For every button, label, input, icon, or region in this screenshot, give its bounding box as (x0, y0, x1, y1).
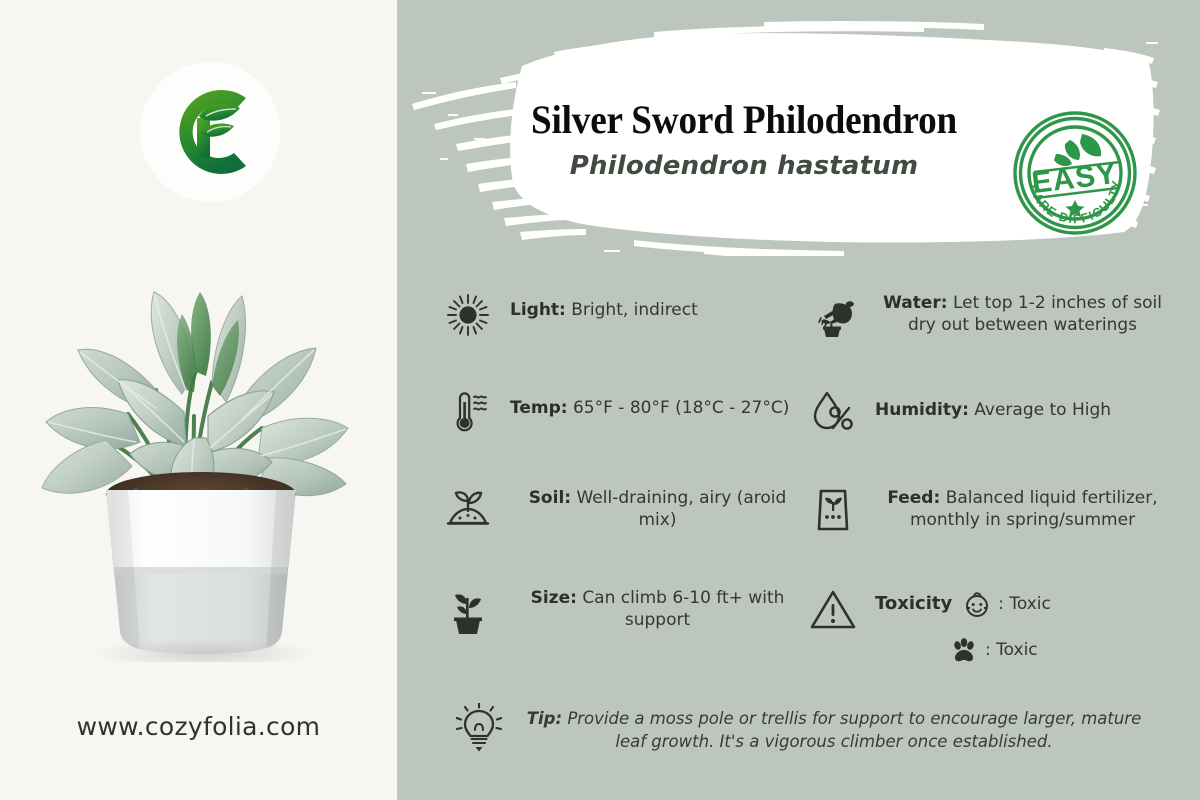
care-item-soil: Soil: Well-draining, airy (aroid mix) (440, 479, 805, 579)
brand-logo (140, 62, 280, 202)
toxicity-pet-line: : Toxic (949, 635, 1170, 665)
care-item-light-label: Light: (510, 300, 566, 320)
care-item-temp-value: 65°F - 80°F (18°C - 27°C) (573, 398, 789, 418)
care-tip-text: Tip: Provide a moss pole or trellis for … (506, 700, 1152, 754)
toxicity-baby-line: Toxicity (875, 589, 1170, 619)
lightbulb-icon (452, 700, 506, 758)
baby-face-icon (962, 589, 992, 619)
humidity-droplet-icon (805, 383, 861, 439)
care-tip-label: Tip: (527, 709, 562, 728)
care-item-humidity-value: Average to High (974, 400, 1111, 420)
care-item-toxicity: Toxicity (805, 579, 1170, 689)
care-item-toxicity-label: Toxicity (875, 592, 952, 615)
care-item-water-text: Water: Let top 1-2 inches of soil dry ou… (861, 285, 1170, 336)
care-item-water-label: Water: (883, 293, 947, 313)
header-title-block: Silver Sword Philodendron Philodendron h… (404, 96, 1084, 181)
care-item-size: Size: Can climb 6-10 ft+ with support (440, 579, 805, 689)
paw-print-icon (949, 635, 979, 665)
silver-sword-philodendron-icon (36, 262, 366, 662)
sun-icon (440, 287, 496, 343)
thermometer-icon (440, 383, 496, 439)
care-item-size-text: Size: Can climb 6-10 ft+ with support (496, 579, 805, 631)
care-item-feed: Feed: Balanced liquid fertilizer, monthl… (805, 479, 1170, 579)
care-item-toxicity-text: Toxicity (861, 579, 1170, 665)
care-item-light-value: Bright, indirect (571, 300, 698, 320)
toxicity-pet-value: : Toxic (985, 639, 1038, 661)
care-item-feed-label: Feed: (887, 488, 940, 508)
warning-triangle-icon (805, 581, 861, 637)
page-title: Silver Sword Philodendron (428, 96, 1060, 143)
care-tip: Tip: Provide a moss pole or trellis for … (452, 700, 1152, 758)
care-item-temp-text: Temp: 65°F - 80°F (18°C - 27°C) (496, 381, 805, 419)
infographic-page: www.cozyfolia.com (0, 0, 1200, 800)
care-item-soil-text: Soil: Well-draining, airy (aroid mix) (496, 479, 805, 531)
website-url[interactable]: www.cozyfolia.com (0, 712, 397, 741)
care-item-soil-label: Soil: (529, 488, 571, 508)
care-item-size-value: Can climb 6-10 ft+ with support (582, 588, 784, 630)
care-item-feed-value: Balanced liquid fertilizer, monthly in s… (910, 488, 1158, 530)
plant-photo (36, 262, 366, 662)
fertilizer-bag-icon (805, 481, 861, 537)
care-item-water: Water: Let top 1-2 inches of soil dry ou… (805, 285, 1170, 381)
care-row-1: Light: Bright, indirect (440, 285, 1170, 381)
care-item-light-text: Light: Bright, indirect (496, 285, 805, 321)
botanical-name: Philodendron hastatum (404, 151, 1084, 181)
potted-plant-icon (440, 581, 496, 637)
care-item-soil-value: Well-draining, airy (aroid mix) (576, 488, 786, 530)
care-row-3: Soil: Well-draining, airy (aroid mix) (440, 479, 1170, 579)
care-row-4: Size: Can climb 6-10 ft+ with support To… (440, 579, 1170, 689)
care-item-light: Light: Bright, indirect (440, 285, 805, 381)
care-item-humidity-text: Humidity: Average to High (861, 381, 1170, 421)
seedling-soil-icon (440, 481, 496, 537)
care-item-temp-label: Temp: (510, 398, 568, 418)
care-item-humidity-label: Humidity: (875, 400, 969, 420)
care-item-humidity: Humidity: Average to High (805, 381, 1170, 479)
watering-can-icon (805, 287, 861, 343)
cozyfolia-leaf-logo-icon (154, 76, 266, 188)
care-item-size-label: Size: (531, 588, 577, 608)
care-row-2: Temp: 65°F - 80°F (18°C - 27°C) (440, 381, 1170, 479)
care-tip-value: Provide a moss pole or trellis for suppo… (567, 709, 1141, 751)
care-item-feed-text: Feed: Balanced liquid fertilizer, monthl… (861, 479, 1170, 531)
care-item-temp: Temp: 65°F - 80°F (18°C - 27°C) (440, 381, 805, 479)
care-details-grid: Light: Bright, indirect (440, 285, 1170, 689)
easy-care-stamp-icon: EASY CARE DIFFICULTY (1012, 110, 1138, 236)
toxicity-baby-value: : Toxic (998, 593, 1051, 615)
